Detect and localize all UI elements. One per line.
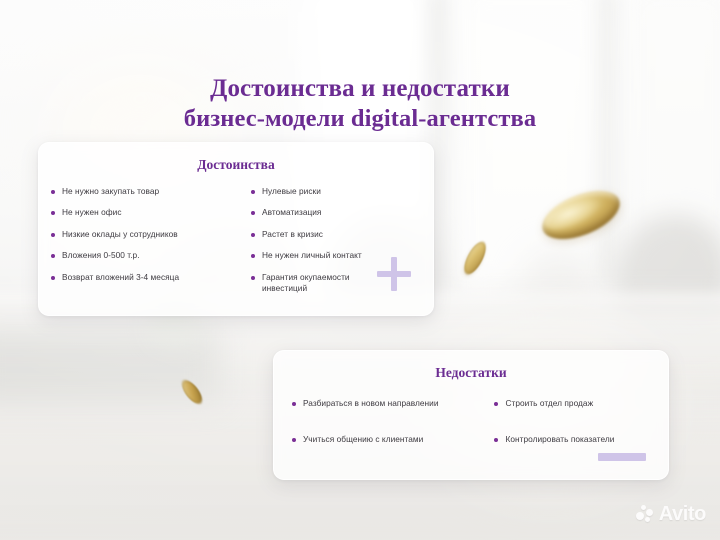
list-item: Разбираться в новом направлении [292, 398, 494, 409]
list-item-label: Растет в кризис [262, 229, 323, 240]
list-item-label: Возврат вложений 3-4 месяца [62, 272, 179, 283]
list-item: Нулевые риски [251, 186, 423, 197]
list-item-label: Не нужно закупать товар [62, 186, 159, 197]
list-item-label: Нулевые риски [262, 186, 321, 197]
list-item: Строить отдел продаж [494, 398, 658, 409]
cons-right-column: Строить отдел продаж Контролировать пока… [494, 398, 658, 470]
bullet-dot-icon [292, 438, 296, 442]
pros-columns: Не нужно закупать товар Не нужен офис Ни… [39, 186, 433, 304]
cons-card: Недостатки Разбираться в новом направлен… [273, 350, 669, 480]
list-item: Не нужен офис [51, 207, 251, 218]
list-item-label: Не нужен личный контакт [262, 250, 362, 261]
pros-card: Достоинства Не нужно закупать товар Не н… [38, 142, 434, 316]
slide-canvas: Достоинства и недостатки бизнес-модели d… [0, 0, 720, 540]
cons-left-column: Разбираться в новом направлении Учиться … [292, 398, 494, 470]
bullet-dot-icon [494, 402, 498, 406]
avito-watermark: Avito [636, 503, 706, 526]
bullet-dot-icon [251, 211, 255, 215]
list-item-label: Контролировать показатели [505, 434, 614, 445]
avito-logo-icon [636, 505, 655, 524]
list-item-label: Разбираться в новом направлении [303, 398, 439, 409]
cons-columns: Разбираться в новом направлении Учиться … [274, 398, 668, 470]
pros-left-column: Не нужно закупать товар Не нужен офис Ни… [51, 186, 251, 304]
bullet-dot-icon [51, 254, 55, 258]
bullet-dot-icon [251, 254, 255, 258]
avito-watermark-label: Avito [659, 503, 706, 526]
bullet-dot-icon [51, 211, 55, 215]
list-item: Не нужен личный контакт [251, 250, 423, 261]
bullet-dot-icon [51, 190, 55, 194]
list-item: Возврат вложений 3-4 месяца [51, 272, 251, 283]
bullet-dot-icon [51, 276, 55, 280]
bullet-dot-icon [494, 438, 498, 442]
list-item: Гарантия окупаемости инвестиций [251, 272, 423, 294]
bullet-dot-icon [251, 233, 255, 237]
list-item: Растет в кризис [251, 229, 423, 240]
bullet-dot-icon [51, 233, 55, 237]
list-item: Контролировать показатели [494, 434, 658, 445]
list-item: Учиться общению с клиентами [292, 434, 494, 445]
list-item-label: Гарантия окупаемости инвестиций [262, 272, 350, 294]
bullet-dot-icon [251, 190, 255, 194]
list-item-label: Вложения 0-500 т.р. [62, 250, 140, 261]
bullet-dot-icon [251, 276, 255, 280]
list-item-label: Строить отдел продаж [505, 398, 593, 409]
bullet-dot-icon [292, 402, 296, 406]
cons-card-heading: Недостатки [274, 365, 668, 381]
list-item: Не нужно закупать товар [51, 186, 251, 197]
list-item: Автоматизация [251, 207, 423, 218]
slide-title: Достоинства и недостатки бизнес-модели d… [0, 73, 720, 134]
list-item-label: Автоматизация [262, 207, 321, 218]
list-item: Вложения 0-500 т.р. [51, 250, 251, 261]
list-item-label: Низкие оклады у сотрудников [62, 229, 178, 240]
slide-title-line-2: бизнес-модели digital-агентства [0, 104, 720, 134]
pros-card-heading: Достоинства [39, 157, 433, 173]
list-item-label: Учиться общению с клиентами [303, 434, 423, 445]
pros-right-column: Нулевые риски Автоматизация Растет в кри… [251, 186, 423, 304]
list-item-label: Не нужен офис [62, 207, 122, 218]
slide-title-line-1: Достоинства и недостатки [0, 73, 720, 104]
list-item: Низкие оклады у сотрудников [51, 229, 251, 240]
